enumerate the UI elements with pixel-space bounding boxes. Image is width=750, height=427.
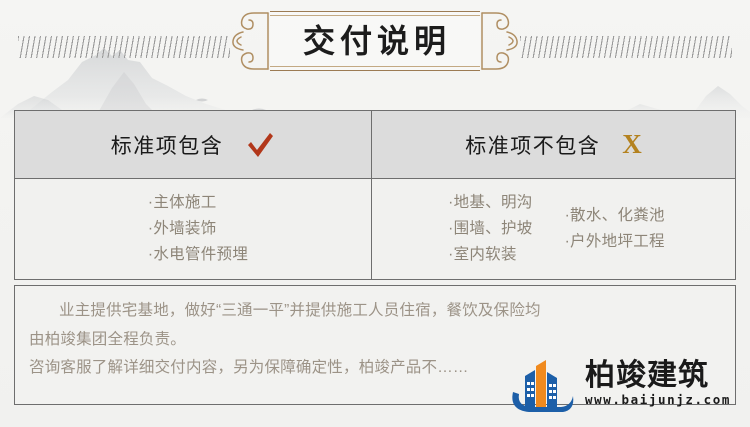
list-item: ·地基、明沟: [448, 191, 532, 215]
list-item: ·水电管件预埋: [148, 243, 248, 267]
not-included-header-label: 标准项不包含: [465, 130, 600, 160]
title-banner: 交付说明: [0, 10, 750, 72]
table-cell-included-items: ·主体施工 ·外墙装饰 ·水电管件预埋: [15, 179, 371, 279]
table-header-row: 标准项包含 标准项不包含 X: [15, 111, 735, 179]
table-content-row: ·主体施工 ·外墙装饰 ·水电管件预埋 ·地基、明沟 ·围墙、护坡 ·室内软装 …: [15, 179, 735, 279]
scroll-ornament-left-icon: [230, 10, 270, 72]
cross-mark-icon: X: [622, 131, 642, 158]
table-header-cell-not-included: 标准项不包含 X: [371, 111, 735, 178]
delivery-comparison-table: 标准项包含 标准项不包含 X ·主体施工 ·外墙装饰: [14, 110, 736, 280]
building-swoosh-logo-icon: [505, 352, 579, 416]
check-mark-icon: [245, 130, 275, 160]
list-item: ·主体施工: [148, 191, 248, 215]
included-item-group: ·主体施工 ·外墙装饰 ·水电管件预埋: [148, 191, 248, 267]
list-item: ·外墙装饰: [148, 217, 248, 241]
list-item: ·室内软装: [448, 243, 532, 267]
not-included-item-group-2: ·散水、化粪池 ·户外地坪工程: [565, 204, 665, 254]
logo-website-url: www.baijunjz.com: [585, 392, 731, 408]
list-item: ·围墙、护坡: [448, 217, 532, 241]
title-frame: 交付说明: [270, 11, 480, 71]
scroll-ornament-right-icon: [480, 10, 520, 72]
not-included-item-group-1: ·地基、明沟 ·围墙、护坡 ·室内软装: [448, 191, 532, 267]
infographic-page: 交付说明 标准项包含: [0, 0, 750, 427]
table-cell-not-included-items: ·地基、明沟 ·围墙、护坡 ·室内软装 ·散水、化粪池 ·户外地坪工程: [371, 179, 735, 279]
table-header-cell-included: 标准项包含: [15, 111, 371, 178]
title-plaque: 交付说明: [230, 10, 520, 72]
company-logo: 柏竣建筑 www.baijunjz.com: [505, 348, 745, 420]
logo-company-name: 柏竣建筑: [585, 360, 731, 392]
page-title: 交付说明: [299, 25, 451, 57]
note-line: 业主提供宅基地，做好“三通一平”并提供施工人员住宿，餐饮及保险均: [29, 297, 721, 326]
included-header-label: 标准项包含: [111, 130, 224, 160]
list-item: ·户外地坪工程: [565, 230, 665, 254]
list-item: ·散水、化粪池: [565, 204, 665, 228]
